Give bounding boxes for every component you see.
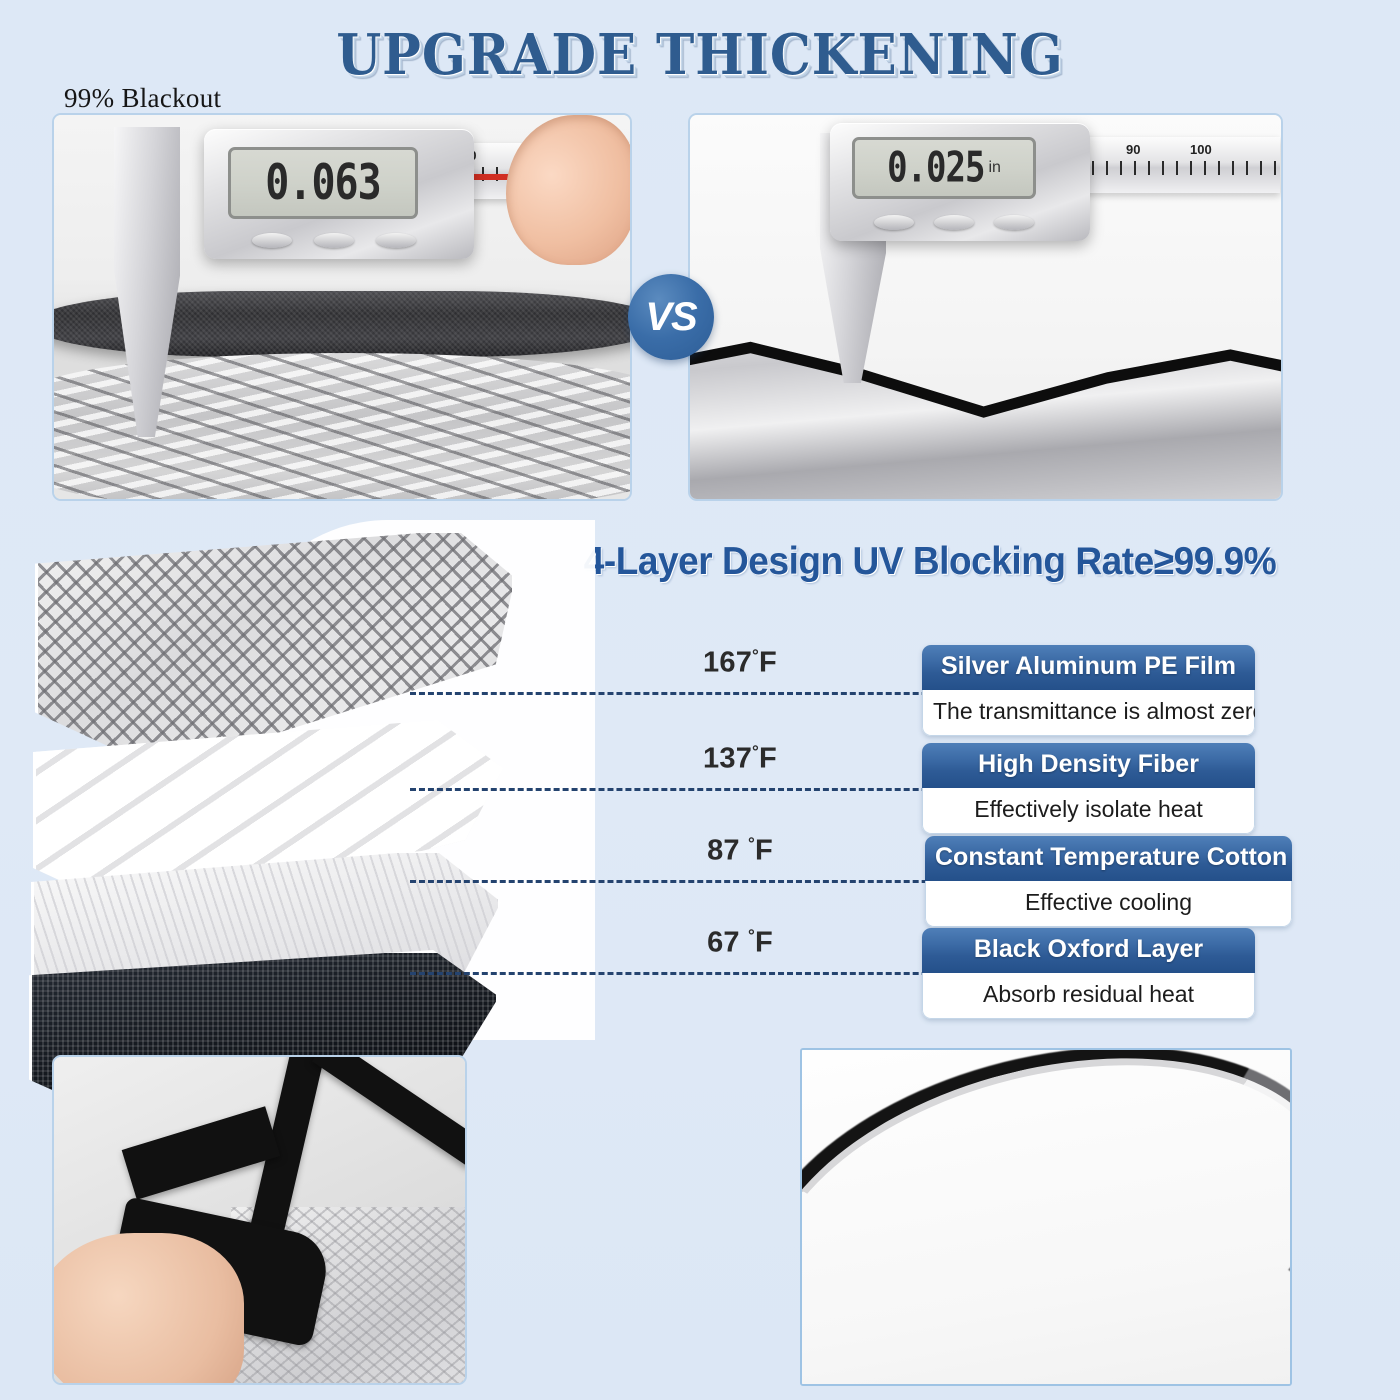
layer-card-description: Effectively isolate heat xyxy=(922,788,1255,834)
flexible-steel-band-photo xyxy=(800,1048,1292,1386)
caliper-unit: in xyxy=(988,159,1000,177)
temp-value: 87 xyxy=(707,835,740,867)
degree-symbol: ° xyxy=(748,926,755,945)
infographic-page: UPGRADE THICKENING 99% Blackout 70 80 90… xyxy=(0,0,1400,1400)
thin-fabric-caliper-photo: 70 80 90 100 0.025 in xyxy=(688,113,1283,501)
temp-value: 167 xyxy=(703,647,752,679)
layer-temperature-4: 67 °F xyxy=(660,926,820,960)
layer-card-title: High Density Fiber xyxy=(922,743,1255,788)
caliper-button-onoff xyxy=(314,233,354,248)
hand-thumb xyxy=(506,115,632,265)
page-title: UPGRADE THICKENING xyxy=(56,22,1344,88)
caliper-lcd-screen: 0.063 xyxy=(228,147,418,219)
temp-unit: F xyxy=(759,647,777,679)
blackout-label: 99% Blackout xyxy=(64,83,221,114)
caliper-lcd-screen: 0.025 in xyxy=(852,137,1036,199)
degree-symbol: ° xyxy=(752,742,759,761)
caliper-button-onoff xyxy=(934,215,974,230)
digital-caliper-body: 0.025 in xyxy=(830,123,1090,241)
thick-fabric-caliper-photo: 70 80 90 100 0.063 xyxy=(52,113,632,501)
ruler-mark-90: 90 xyxy=(1126,142,1140,157)
temp-unit: F xyxy=(759,743,777,775)
layer-card-title: Black Oxford Layer xyxy=(922,928,1255,973)
caliper-button-mm-in xyxy=(252,233,292,248)
caliper-button-zero xyxy=(376,233,416,248)
layer-card-title: Constant Temperature Cotton xyxy=(925,836,1292,881)
four-layer-stack-illustration xyxy=(45,520,565,1040)
layer-card-description: Absorb residual heat xyxy=(922,973,1255,1019)
degree-symbol: ° xyxy=(748,834,755,853)
layer-card-high-density-fiber[interactable]: High Density Fiber Effectively isolate h… xyxy=(922,743,1255,834)
temp-unit: F xyxy=(755,835,773,867)
layer-card-title: Silver Aluminum PE Film xyxy=(922,645,1255,690)
degree-symbol: ° xyxy=(752,646,759,665)
caliper-reading: 0.025 xyxy=(887,144,984,193)
velcro-strap-photo xyxy=(52,1055,467,1385)
layer-temperature-3: 87 °F xyxy=(660,834,820,868)
ruler-mark-100: 100 xyxy=(1190,142,1212,157)
temp-value: 137 xyxy=(703,743,752,775)
caliper-button-zero xyxy=(994,215,1034,230)
layer-card-constant-temperature-cotton[interactable]: Constant Temperature Cotton Effective co… xyxy=(925,836,1292,927)
layer-card-description: The transmittance is almost zero xyxy=(922,690,1255,736)
layer-card-silver-aluminum-pe-film[interactable]: Silver Aluminum PE Film The transmittanc… xyxy=(922,645,1255,736)
temp-value: 67 xyxy=(707,927,740,959)
caliper-reading: 0.063 xyxy=(265,155,380,211)
layers-section-heading: 4-Layer Design UV Blocking Rate≥99.9% xyxy=(560,540,1301,584)
vs-badge: VS xyxy=(628,274,714,360)
layer-temperature-2: 137°F xyxy=(660,742,820,776)
digital-caliper-body: 0.063 xyxy=(204,129,474,259)
layer-card-black-oxford-layer[interactable]: Black Oxford Layer Absorb residual heat xyxy=(922,928,1255,1019)
hand xyxy=(52,1233,244,1385)
temp-unit: F xyxy=(755,927,773,959)
caliper-button-mm-in xyxy=(874,215,914,230)
layer-temperature-1: 167°F xyxy=(660,646,820,680)
layer-card-description: Effective cooling xyxy=(925,881,1292,927)
